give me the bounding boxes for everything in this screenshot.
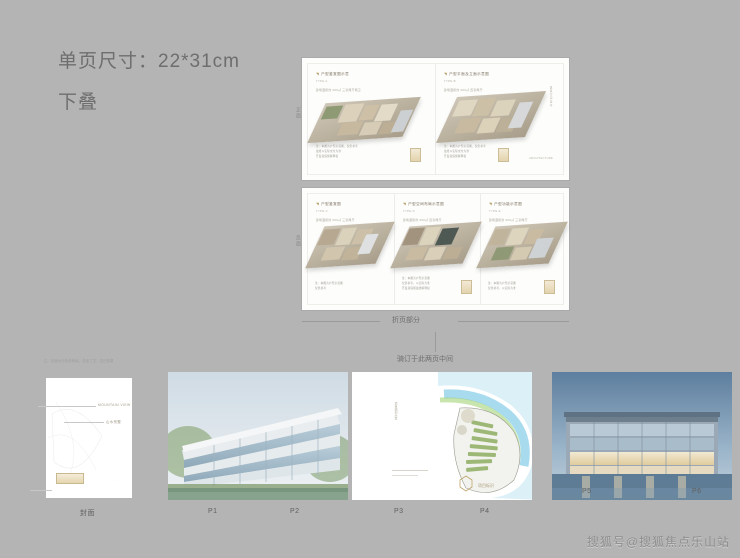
plan-subtitle: TYPE D <box>403 209 415 213</box>
plan-desc: 建筑面积约 000㎡ 三室两厅 <box>316 218 355 222</box>
gold-mark-icon: ◥ <box>489 202 492 206</box>
label-p5: P5 <box>582 488 592 495</box>
plan-note: 注：本图为户型示意图 仅供参考 <box>315 282 343 292</box>
spread-front-page-1: ◥户型鉴赏图示意 TYPE A 建筑面积约 000㎡ 三室两厅两卫 注：本图为户… <box>308 64 435 174</box>
spread-back-page-1: ◥户型鉴赏图 TYPE C 建筑面积约 000㎡ 三室两厅 注：本图为户型示意图… <box>308 194 394 304</box>
cover-dots: ··· <box>114 479 123 483</box>
fold-annotation: 折页部分 <box>392 315 420 325</box>
material-swatch <box>544 280 555 294</box>
floorplan-render-a <box>318 100 410 140</box>
gold-mark-icon: ◥ <box>444 72 447 76</box>
cover-annotation: 注：封面为白色特种纸，烫金工艺，压凹效果 <box>44 358 114 363</box>
plan-side-footer: ARCHITECTURE <box>529 157 553 160</box>
plan-subtitle: TYPE C <box>316 209 328 213</box>
plan-title: ◥户型鉴赏图示意 <box>316 72 349 77</box>
page-size-label: 单页尺寸：22*31cm <box>58 46 240 73</box>
render-dusk-image <box>552 372 732 500</box>
spread-front-page-2: ◥户型平面及立面示意图 TYPE B 建筑面积约 000㎡ 四室两厅 注：本图为… <box>436 64 563 174</box>
svg-text:项目规划示意: 项目规划示意 <box>394 402 398 421</box>
plan-title: ◥户型平面及立面示意图 <box>444 72 489 77</box>
plan-desc: 建筑面积约 000㎡ 三室两厅两卫 <box>316 88 361 92</box>
plan-note: 注：本图为户型示意图，仅供参考 最终以实际交付为准 开发商保留解释权 <box>316 145 358 160</box>
spread-back: ◥户型鉴赏图 TYPE C 建筑面积约 000㎡ 三室两厅 注：本图为户型示意图… <box>302 188 569 310</box>
plan-title: ◥户型功能示意图 <box>489 202 522 207</box>
plan-subtitle: TYPE B <box>444 79 456 83</box>
cover-leader-3 <box>30 490 52 491</box>
fold-leader-left <box>302 321 380 322</box>
floorplan-render-b <box>448 94 534 140</box>
label-p1: P1 <box>208 508 218 515</box>
render-dusk-thumb[interactable] <box>552 372 732 500</box>
masterplan-thumb[interactable]: 项目规划示意 项目标识 <box>352 372 532 500</box>
plan-desc: 建筑面积约 000㎡ 三室两厅 <box>489 218 528 222</box>
plan-note: 注：本图为户型示意图，仅供参考 最终以实际交付为准 开发商保留解释权 <box>444 145 486 160</box>
plan-side-column: 建筑空间美学 <box>539 86 553 108</box>
binding-leader <box>435 332 436 352</box>
render-day-image <box>168 372 348 500</box>
spread-front-side-label: 正面 <box>289 100 301 126</box>
fold-type-label: 下叠 <box>58 87 240 114</box>
gold-mark-icon: ◥ <box>403 202 406 206</box>
floorplan-render-d <box>401 224 471 266</box>
material-swatch <box>461 280 472 294</box>
spread-back-side-label: 反面 <box>289 228 301 254</box>
plan-desc: 建筑面积约 000㎡ 四室两厅 <box>444 88 483 92</box>
svg-text:项目标识: 项目标识 <box>478 482 494 488</box>
material-swatch <box>410 148 421 162</box>
masterplan-image: 项目规划示意 项目标识 <box>352 372 532 500</box>
cover-logo <box>56 473 84 484</box>
page-title: 单页尺寸：22*31cm 下叠 <box>58 46 240 114</box>
label-cover: 封面 <box>80 508 95 518</box>
cover-thumb[interactable]: MOUNTAIN VIEW 山水别墅 ··· <box>46 378 132 498</box>
floorplan-render-e <box>487 224 557 266</box>
label-p6: P6 <box>692 488 702 495</box>
material-swatch <box>498 148 509 162</box>
floorplan-render-c <box>316 224 384 266</box>
plan-note: 注：本图为户型示意图 仅供参考，以实际为准 开发商保留最终解释权 <box>402 277 430 292</box>
binding-annotation: 骑订于此两页中间 <box>397 354 453 364</box>
label-p4: P4 <box>480 508 490 515</box>
gold-mark-icon: ◥ <box>316 72 319 76</box>
plan-subtitle: TYPE E <box>489 209 501 213</box>
plan-subtitle: TYPE A <box>316 79 328 83</box>
plan-title: ◥户型鉴赏图 <box>316 202 341 207</box>
watermark: 搜狐号@搜狐焦点乐山站 <box>587 533 730 550</box>
spread-back-page-2: ◥户型空间布局示意图 TYPE D 建筑面积约 000㎡ 四室两厅 注：本图为户… <box>395 194 480 304</box>
fold-leader-right <box>458 321 569 322</box>
plan-title: ◥户型空间布局示意图 <box>403 202 444 207</box>
spread-front: ◥户型鉴赏图示意 TYPE A 建筑面积约 000㎡ 三室两厅两卫 注：本图为户… <box>302 58 569 180</box>
gold-mark-icon: ◥ <box>316 202 319 206</box>
render-day-thumb[interactable] <box>168 372 348 500</box>
label-p3: P3 <box>394 508 404 515</box>
plan-desc: 建筑面积约 000㎡ 四室两厅 <box>403 218 442 222</box>
plan-note: 注：本图为户型示意图 仅供参考，以实际为准 <box>488 282 516 292</box>
brochure-layout-canvas: 单页尺寸：22*31cm 下叠 正面 ◥户型鉴赏图示意 TYPE A 建筑面积约… <box>0 0 740 558</box>
spread-back-page-3: ◥户型功能示意图 TYPE E 建筑面积约 000㎡ 三室两厅 注：本图为户型示… <box>481 194 563 304</box>
label-p2: P2 <box>290 508 300 515</box>
